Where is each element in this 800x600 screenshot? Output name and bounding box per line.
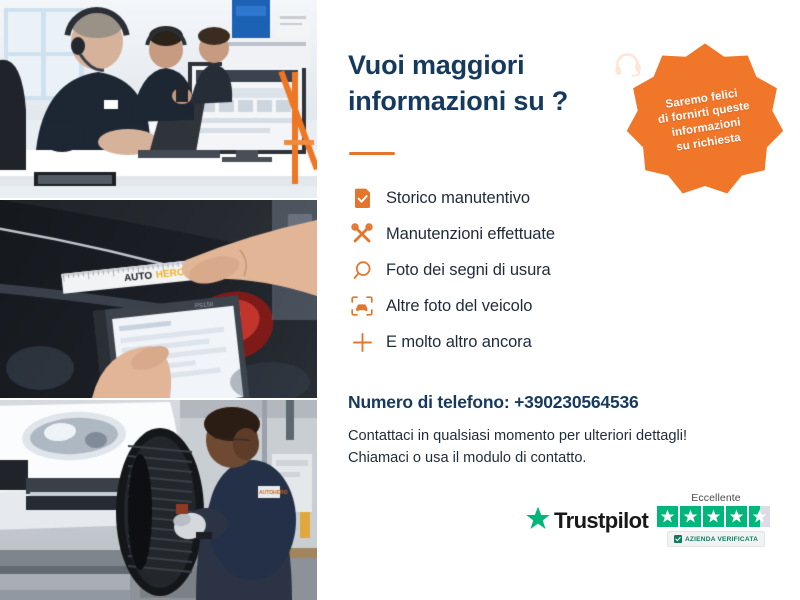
car-frame-icon [344, 291, 380, 321]
trustpilot-logo: Trustpilot [525, 506, 648, 536]
status-badge: AZIENDA VERIFICATA [667, 531, 765, 547]
promo-banner: Vuoi maggiori informazioni su ? [0, 0, 800, 600]
list-item: Manutenzioni effettuate [344, 216, 764, 252]
page-title: Vuoi maggiori informazioni su ? [348, 48, 638, 120]
callout-badge: Saremo felici di fornirti queste informa… [622, 40, 788, 200]
list-item: Altre foto del veicolo [344, 288, 764, 324]
trustpilot-rating: Eccellente [657, 492, 775, 547]
badge-text: Saremo felici di fornirti queste informa… [655, 85, 756, 157]
photo-column [0, 0, 317, 600]
list-item: Storico manutentivo [344, 180, 764, 216]
star-filled-icon [726, 506, 747, 527]
call-center-agents-photo [0, 0, 317, 198]
trustpilot-wordmark: Trustpilot [554, 508, 648, 534]
rating-label: Eccellente [657, 492, 775, 504]
car-inspection-ruler-photo [0, 200, 317, 398]
trustpilot-star-icon [525, 506, 551, 536]
star-half-icon [749, 506, 770, 527]
wrench-screwdriver-icon [344, 219, 380, 249]
star-filled-icon [703, 506, 724, 527]
list-item: Foto dei segni di usura [344, 252, 764, 288]
star-filled-icon [657, 506, 678, 527]
verified-check-icon [674, 530, 682, 548]
phone-number-line: Numero di telefono: +390230564536 [348, 392, 639, 413]
contact-line-2: Chiamaci o usa il modulo di contatto. [348, 447, 778, 469]
list-item-label: Storico manutentivo [380, 189, 530, 208]
headline-line-1: Vuoi maggiori [348, 48, 638, 84]
workshop-tire-check-photo [0, 400, 317, 600]
content-panel: Vuoi maggiori informazioni su ? [317, 0, 800, 600]
list-item-label: Altre foto del veicolo [380, 297, 532, 316]
headline-line-2: informazioni su ? [348, 84, 638, 120]
list-item: E molto altro ancora [344, 324, 764, 360]
verified-label: AZIENDA VERIFICATA [685, 536, 758, 543]
contact-text: Contattaci in qualsiasi momento per ulte… [348, 425, 778, 469]
contact-line-1: Contattaci in qualsiasi momento per ulte… [348, 425, 778, 447]
star-filled-icon [680, 506, 701, 527]
document-check-icon [344, 183, 380, 213]
list-item-label: Foto dei segni di usura [380, 261, 551, 280]
plus-icon [344, 327, 380, 357]
star-rating [657, 506, 775, 527]
magnifier-icon [344, 255, 380, 285]
list-item-label: E molto altro ancora [380, 333, 532, 352]
list-item-label: Manutenzioni effettuate [380, 225, 555, 244]
headline-underline [349, 152, 395, 155]
trustpilot-widget[interactable]: Trustpilot Eccellente [525, 492, 775, 554]
feature-list: Storico manutentivo Manutenzioni effettu… [344, 180, 764, 360]
